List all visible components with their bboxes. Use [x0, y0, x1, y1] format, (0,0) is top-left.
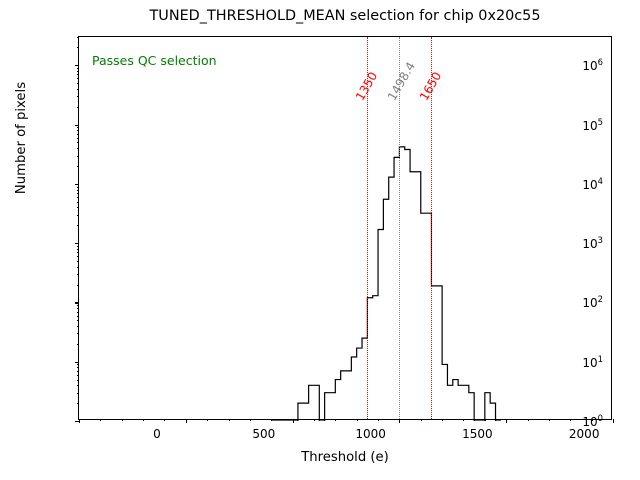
y-tick-minor: [77, 320, 79, 321]
page-title: TUNED_THRESHOLD_MEAN selection for chip …: [78, 8, 612, 24]
y-tick-minor: [77, 190, 79, 191]
x-tick-minor: [570, 419, 571, 421]
y-tick-minor: [77, 37, 79, 38]
x-tick-minor: [463, 419, 464, 421]
y-tick: [75, 184, 79, 185]
x-tick-minor: [378, 419, 379, 421]
y-tick-minor: [77, 308, 79, 309]
y-tick-minor: [77, 385, 79, 386]
y-tick-minor: [77, 166, 79, 167]
y-tick-minor: [77, 74, 79, 75]
y-tick-minor: [77, 130, 79, 131]
y-tick-minor: [77, 187, 79, 188]
y-tick-minor: [77, 364, 79, 365]
x-tick-label: 1500: [462, 427, 493, 441]
y-tick-label: 105: [582, 117, 603, 133]
y-tick-minor: [77, 367, 79, 368]
x-tick-minor: [335, 419, 336, 421]
y-tick-minor: [77, 215, 79, 216]
y-tick-minor: [77, 83, 79, 84]
histogram-step-outline: [271, 147, 501, 421]
y-tick-minor: [77, 197, 79, 198]
x-tick: [293, 419, 294, 423]
y-tick-minor: [77, 267, 79, 268]
histogram-series: [79, 37, 613, 421]
y-tick-minor: [77, 207, 79, 208]
y-tick-minor: [77, 193, 79, 194]
y-tick-minor: [77, 96, 79, 97]
x-axis-label: Threshold (e): [78, 450, 612, 465]
y-tick: [75, 125, 79, 126]
y-tick-minor: [77, 316, 79, 317]
chart-figure: TUNED_THRESHOLD_MEAN selection for chip …: [0, 0, 640, 480]
y-tick-minor: [77, 333, 79, 334]
y-axis-label: Number of pixels: [14, 0, 29, 330]
x-tick-minor: [207, 419, 208, 421]
y-tick-minor: [77, 202, 79, 203]
y-tick-minor: [77, 89, 79, 90]
x-tick-label: 0: [153, 427, 161, 441]
y-tick-minor: [77, 78, 79, 79]
x-tick-minor: [357, 419, 358, 421]
x-tick-minor: [485, 419, 486, 421]
y-tick-minor: [77, 225, 79, 226]
y-tick-minor: [77, 148, 79, 149]
y-tick-minor: [77, 252, 79, 253]
y-tick-minor: [77, 156, 79, 157]
y-tick-minor: [77, 375, 79, 376]
x-tick-minor: [164, 419, 165, 421]
x-tick-minor: [143, 419, 144, 421]
y-tick-minor: [77, 403, 79, 404]
x-tick-label: 1000: [355, 427, 386, 441]
y-tick-label: 102: [582, 294, 603, 310]
y-tick-minor: [77, 393, 79, 394]
y-tick-minor: [77, 134, 79, 135]
y-tick-label: 100: [582, 413, 603, 429]
y-tick-minor: [77, 261, 79, 262]
x-tick-minor: [442, 419, 443, 421]
x-tick-minor: [122, 419, 123, 421]
y-tick: [75, 421, 79, 422]
y-tick-minor: [77, 371, 79, 372]
y-tick-minor: [77, 312, 79, 313]
y-tick-minor: [77, 246, 79, 247]
y-tick-minor: [77, 256, 79, 257]
plot-area: Passes QC selection 13501498.41650 05001…: [78, 36, 612, 420]
x-tick-minor: [314, 419, 315, 421]
y-tick-label: 106: [582, 57, 603, 73]
y-tick-label: 101: [582, 354, 603, 370]
y-tick-minor: [77, 305, 79, 306]
x-tick-minor: [229, 419, 230, 421]
y-tick: [75, 362, 79, 363]
x-tick-label: 500: [252, 427, 275, 441]
x-tick: [79, 419, 80, 423]
y-tick-minor: [77, 326, 79, 327]
x-tick: [613, 419, 614, 423]
x-tick-minor: [549, 419, 550, 421]
y-tick: [75, 302, 79, 303]
y-tick-minor: [77, 68, 79, 69]
y-tick-minor: [77, 142, 79, 143]
y-tick-minor: [77, 127, 79, 128]
x-tick-minor: [250, 419, 251, 421]
x-tick: [399, 419, 400, 423]
x-tick-minor: [100, 419, 101, 421]
x-tick-minor: [528, 419, 529, 421]
y-tick-minor: [77, 380, 79, 381]
x-tick-minor: [421, 419, 422, 421]
x-tick-label: 2000: [569, 427, 600, 441]
y-tick-minor: [77, 285, 79, 286]
y-tick-label: 103: [582, 235, 603, 251]
y-tick-minor: [77, 274, 79, 275]
y-tick-label: 104: [582, 176, 603, 192]
x-tick-minor: [271, 419, 272, 421]
y-tick: [75, 65, 79, 66]
y-tick: [75, 243, 79, 244]
y-tick-minor: [77, 71, 79, 72]
y-tick-minor: [77, 249, 79, 250]
x-tick: [186, 419, 187, 423]
y-tick-minor: [77, 107, 79, 108]
y-tick-minor: [77, 47, 79, 48]
x-tick: [506, 419, 507, 423]
y-tick-minor: [77, 138, 79, 139]
y-tick-minor: [77, 344, 79, 345]
